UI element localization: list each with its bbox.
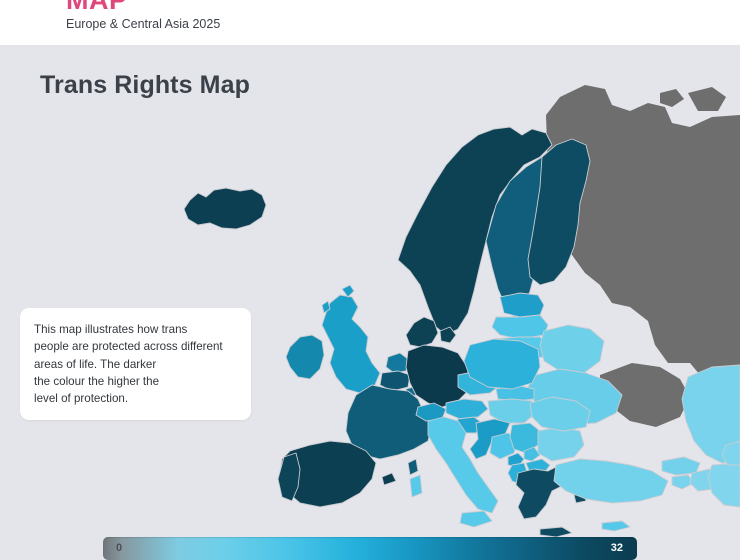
legend-min-label: 0 [116,541,122,556]
region-arctic-island-1[interactable] [688,87,726,111]
region-ireland[interactable] [286,335,324,379]
region-greece-crete[interactable] [540,527,572,537]
map-info-card: This map illustrates how trans people ar… [20,308,251,420]
europe-central-asia-choropleth[interactable] [0,45,740,560]
region-turkiye[interactable] [554,459,668,503]
page-title: Trans Rights Map [40,71,250,100]
legend-max-label: 32 [611,541,623,556]
brand-subtitle: Europe & Central Asia 2025 [66,16,220,32]
region-italy-sardinia[interactable] [410,475,422,497]
brand-block[interactable]: MAP Europe & Central Asia 2025 [66,0,220,32]
legend-gradient-bar[interactable]: 0 32 [103,537,637,560]
region-netherlands[interactable] [386,353,408,373]
region-denmark[interactable] [406,317,438,347]
site-header: MAP Europe & Central Asia 2025 [0,0,740,45]
region-arctic-island-2[interactable] [660,89,684,107]
region-estonia[interactable] [500,293,544,317]
region-belarus[interactable] [540,325,604,373]
region-iceland[interactable] [184,188,266,229]
region-france-corsica[interactable] [408,459,418,475]
map-stage[interactable]: Trans Rights Map This map illustrates ho… [0,45,740,560]
region-italy-sicily[interactable] [460,511,492,527]
brand-logo-text: MAP [66,0,220,14]
region-austria[interactable] [446,399,488,419]
region-turkmenistan[interactable] [708,463,740,507]
trans-rights-map-page: MAP Europe & Central Asia 2025 [0,0,740,560]
region-spain-balearic[interactable] [382,473,396,485]
region-bulgaria[interactable] [538,427,584,461]
region-latvia[interactable] [492,315,548,339]
map-info-text: This map illustrates how trans people ar… [34,321,237,407]
region-cyprus[interactable] [602,521,630,531]
region-united-kingdom[interactable] [322,295,380,393]
